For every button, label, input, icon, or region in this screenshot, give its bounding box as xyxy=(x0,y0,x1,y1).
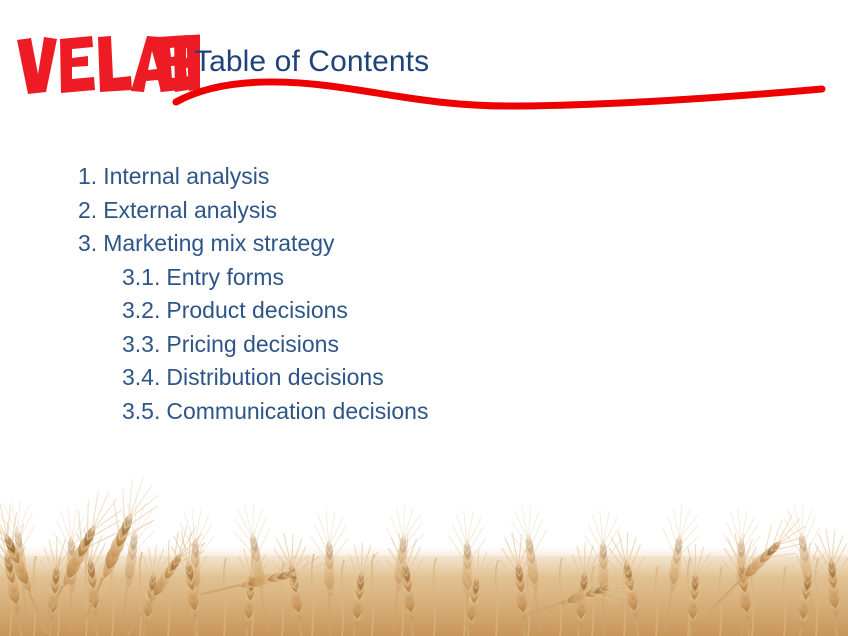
toc-item[interactable]: 1.Internal analysis xyxy=(78,160,848,194)
toc-item[interactable]: 3.2.Product decisions xyxy=(122,294,848,328)
velarte-logo xyxy=(14,34,200,96)
toc-item-label: Pricing decisions xyxy=(166,331,339,357)
page-title: Table of Contents xyxy=(194,45,429,79)
toc-item[interactable]: 3.3.Pricing decisions xyxy=(122,328,848,362)
toc-item[interactable]: 3.Marketing mix strategy xyxy=(78,227,848,261)
toc-item-label: External analysis xyxy=(103,197,277,223)
toc-item-number: 1. xyxy=(78,163,97,189)
toc-item-number: 3.5. xyxy=(122,398,160,424)
toc-item[interactable]: 2.External analysis xyxy=(78,194,848,228)
toc-item-number: 3.4. xyxy=(122,364,160,390)
slide-header: Table of Contents xyxy=(0,0,848,120)
toc-item[interactable]: 3.5.Communication decisions xyxy=(122,395,848,429)
toc-item-label: Distribution decisions xyxy=(166,364,383,390)
toc-item[interactable]: 3.1.Entry forms xyxy=(122,261,848,295)
toc-item-label: Marketing mix strategy xyxy=(103,230,334,256)
toc-item-label: Entry forms xyxy=(166,264,284,290)
table-of-contents-list: 1.Internal analysis2.External analysis3.… xyxy=(0,160,848,428)
toc-item-number: 3. xyxy=(78,230,97,256)
toc-item-label: Product decisions xyxy=(166,297,348,323)
toc-item-number: 2. xyxy=(78,197,97,223)
toc-item-number: 3.3. xyxy=(122,331,160,357)
wheat-field-photo xyxy=(0,436,848,636)
slide-canvas: Table of Contents 1.Internal analysis2.E… xyxy=(0,0,848,636)
toc-item-label: Communication decisions xyxy=(166,398,428,424)
toc-item-number: 3.1. xyxy=(122,264,160,290)
toc-item-number: 3.2. xyxy=(122,297,160,323)
toc-item-label: Internal analysis xyxy=(103,163,269,189)
toc-item[interactable]: 3.4.Distribution decisions xyxy=(122,361,848,395)
